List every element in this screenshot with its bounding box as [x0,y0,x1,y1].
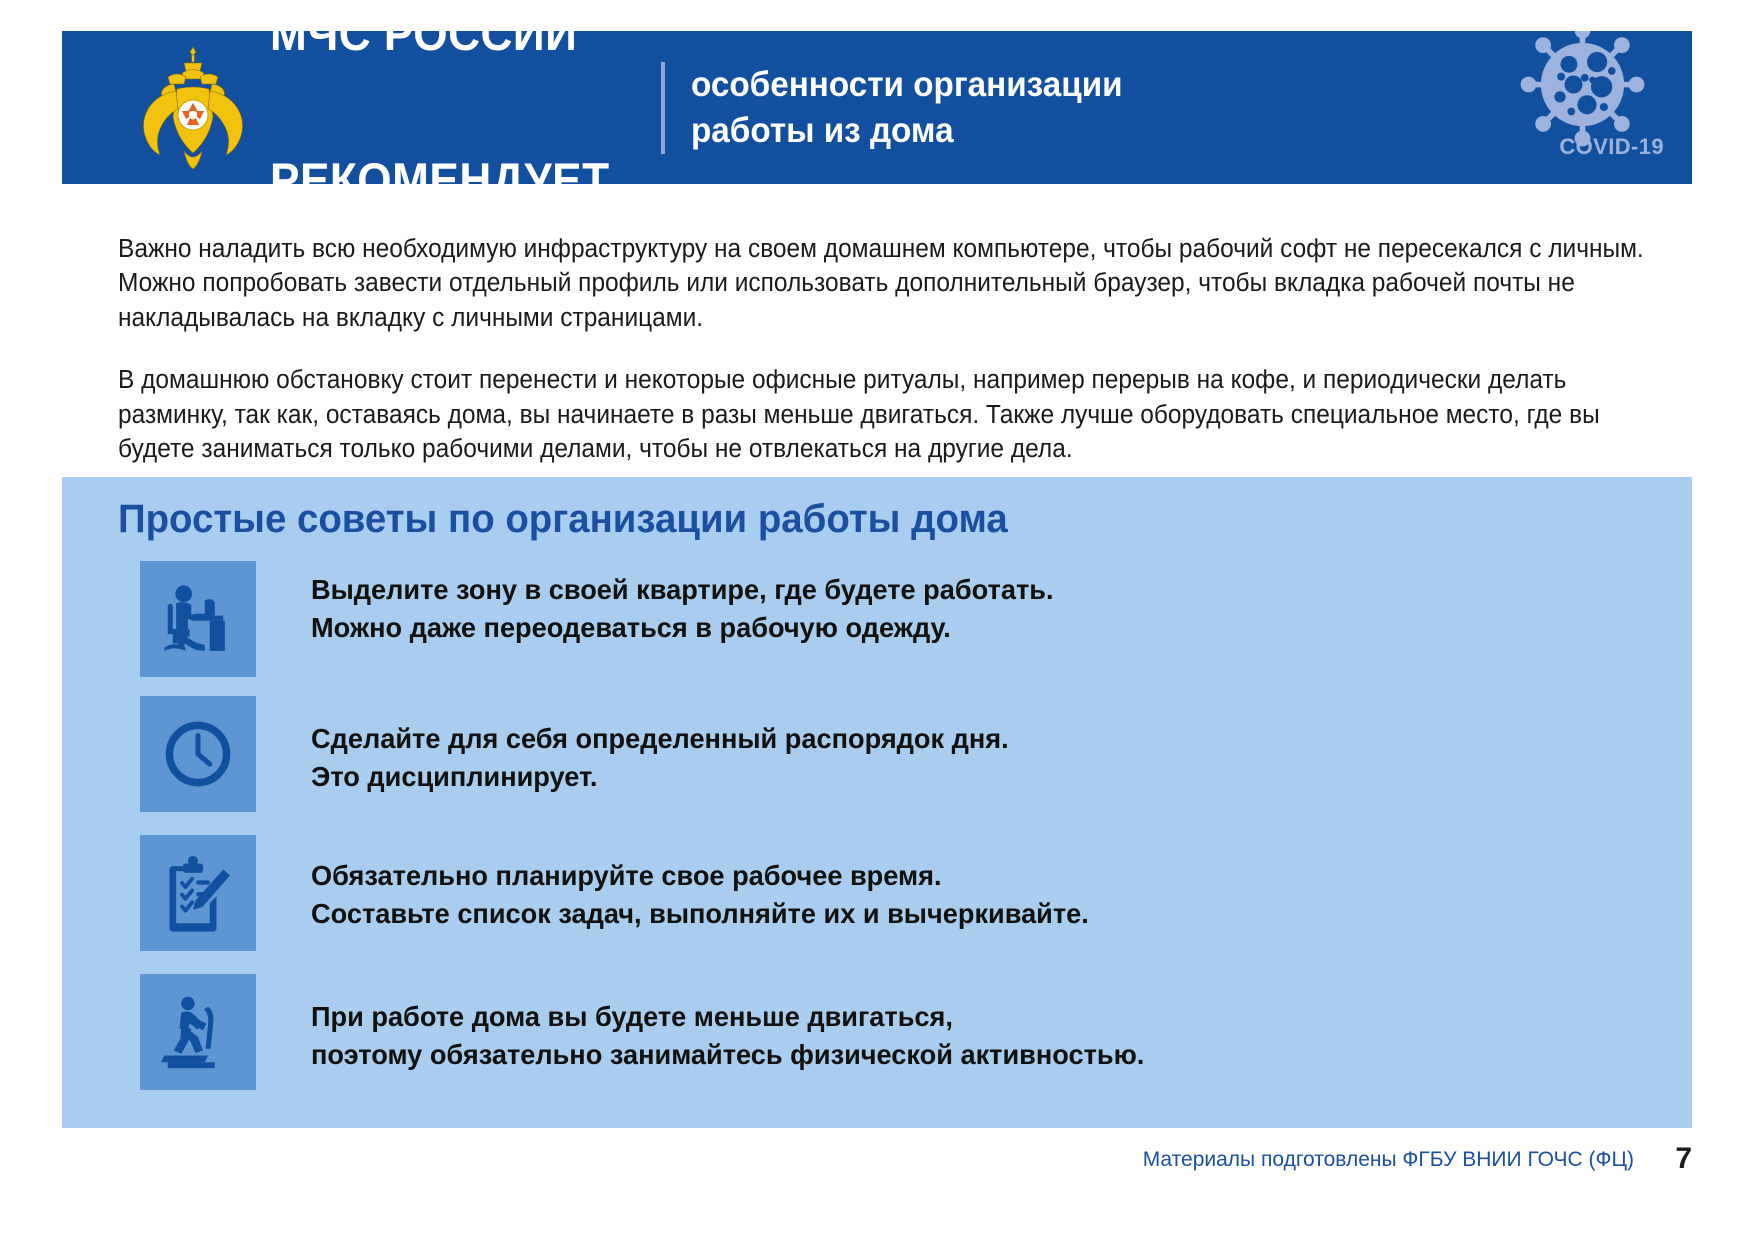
tip-item: При работе дома вы будете меньше двигать… [140,974,1652,1090]
brand-title-line-1: МЧС РОССИИ [270,31,610,59]
tip-4-line-1: При работе дома вы будете меньше двигать… [311,998,1144,1036]
tip-item: Выделите зону в своей квартире, где буде… [140,561,1652,677]
person-at-desk-icon [140,561,256,677]
tip-item: Обязательно планируйте свое рабочее врем… [140,835,1652,951]
paragraph-1: Важно наладить всю необходимую инфрастру… [118,232,1616,335]
footer-credit: Материалы подготовлены ФГБУ ВНИИ ГОЧС (Ф… [1143,1148,1634,1172]
header-divider [661,62,665,154]
tip-2-line-2: Это дисциплинирует. [311,758,1009,796]
paragraph-2: В домашнюю обстановку стоит перенести и … [118,363,1616,466]
tips-panel: Простые советы по организации работы дом… [62,477,1692,1128]
tip-1-line-1: Выделите зону в своей квартире, где буде… [311,571,1054,609]
paragraph-1-line-3: накладывалась на вкладку с личными стран… [118,301,1616,335]
paragraph-2-line-3: будете заниматься только рабочими делами… [118,432,1616,466]
mchs-double-headed-eagle-emblem-icon [134,43,252,173]
tip-4-line-2: поэтому обязательно занимайтесь физическ… [311,1036,1144,1074]
page-number: 7 [1675,1142,1692,1176]
tip-text: Сделайте для себя определенный распорядо… [311,696,1009,796]
tip-3-line-2: Составьте список задач, выполняйте их и … [311,895,1089,933]
tip-2-line-1: Сделайте для себя определенный распорядо… [311,720,1009,758]
tips-panel-title: Простые советы по организации работы дом… [118,499,1008,539]
paragraph-1-line-1: Важно наладить всю необходимую инфрастру… [118,232,1616,266]
paragraph-2-line-1: В домашнюю обстановку стоит перенести и … [118,363,1616,397]
tip-1-line-2: Можно даже переодеваться в рабочую одежд… [311,609,1054,647]
covid-badge: COVID-19 [1432,31,1692,184]
tip-3-line-1: Обязательно планируйте свое рабочее врем… [311,857,1089,895]
tips-list: Выделите зону в своей квартире, где буде… [140,561,1652,1109]
clipboard-checklist-pencil-icon [140,835,256,951]
paragraph-2-line-2: разминку, так как, оставаясь дома, вы на… [118,398,1616,432]
tip-item: Сделайте для себя определенный распорядо… [140,696,1652,812]
tip-text: При работе дома вы будете меньше двигать… [311,974,1144,1074]
brand-title-line-2: РЕКОМЕНДУЕТ [270,156,610,184]
clock-icon [140,696,256,812]
covid-19-label: COVID-19 [1559,134,1664,160]
brand-title: МЧС РОССИИ РЕКОМЕНДУЕТ [270,31,610,184]
page-header: МЧС РОССИИ РЕКОМЕНДУЕТ особенности орган… [62,31,1692,184]
tip-text: Выделите зону в своей квартире, где буде… [311,561,1054,647]
tip-text: Обязательно планируйте свое рабочее врем… [311,835,1089,933]
page-footer: Материалы подготовлены ФГБУ ВНИИ ГОЧС (Ф… [0,1148,1754,1188]
treadmill-running-icon [140,974,256,1090]
paragraph-1-line-2: Можно попробовать завести отдельный проф… [118,266,1616,300]
body-paragraphs: Важно наладить всю необходимую инфрастру… [118,232,1678,495]
